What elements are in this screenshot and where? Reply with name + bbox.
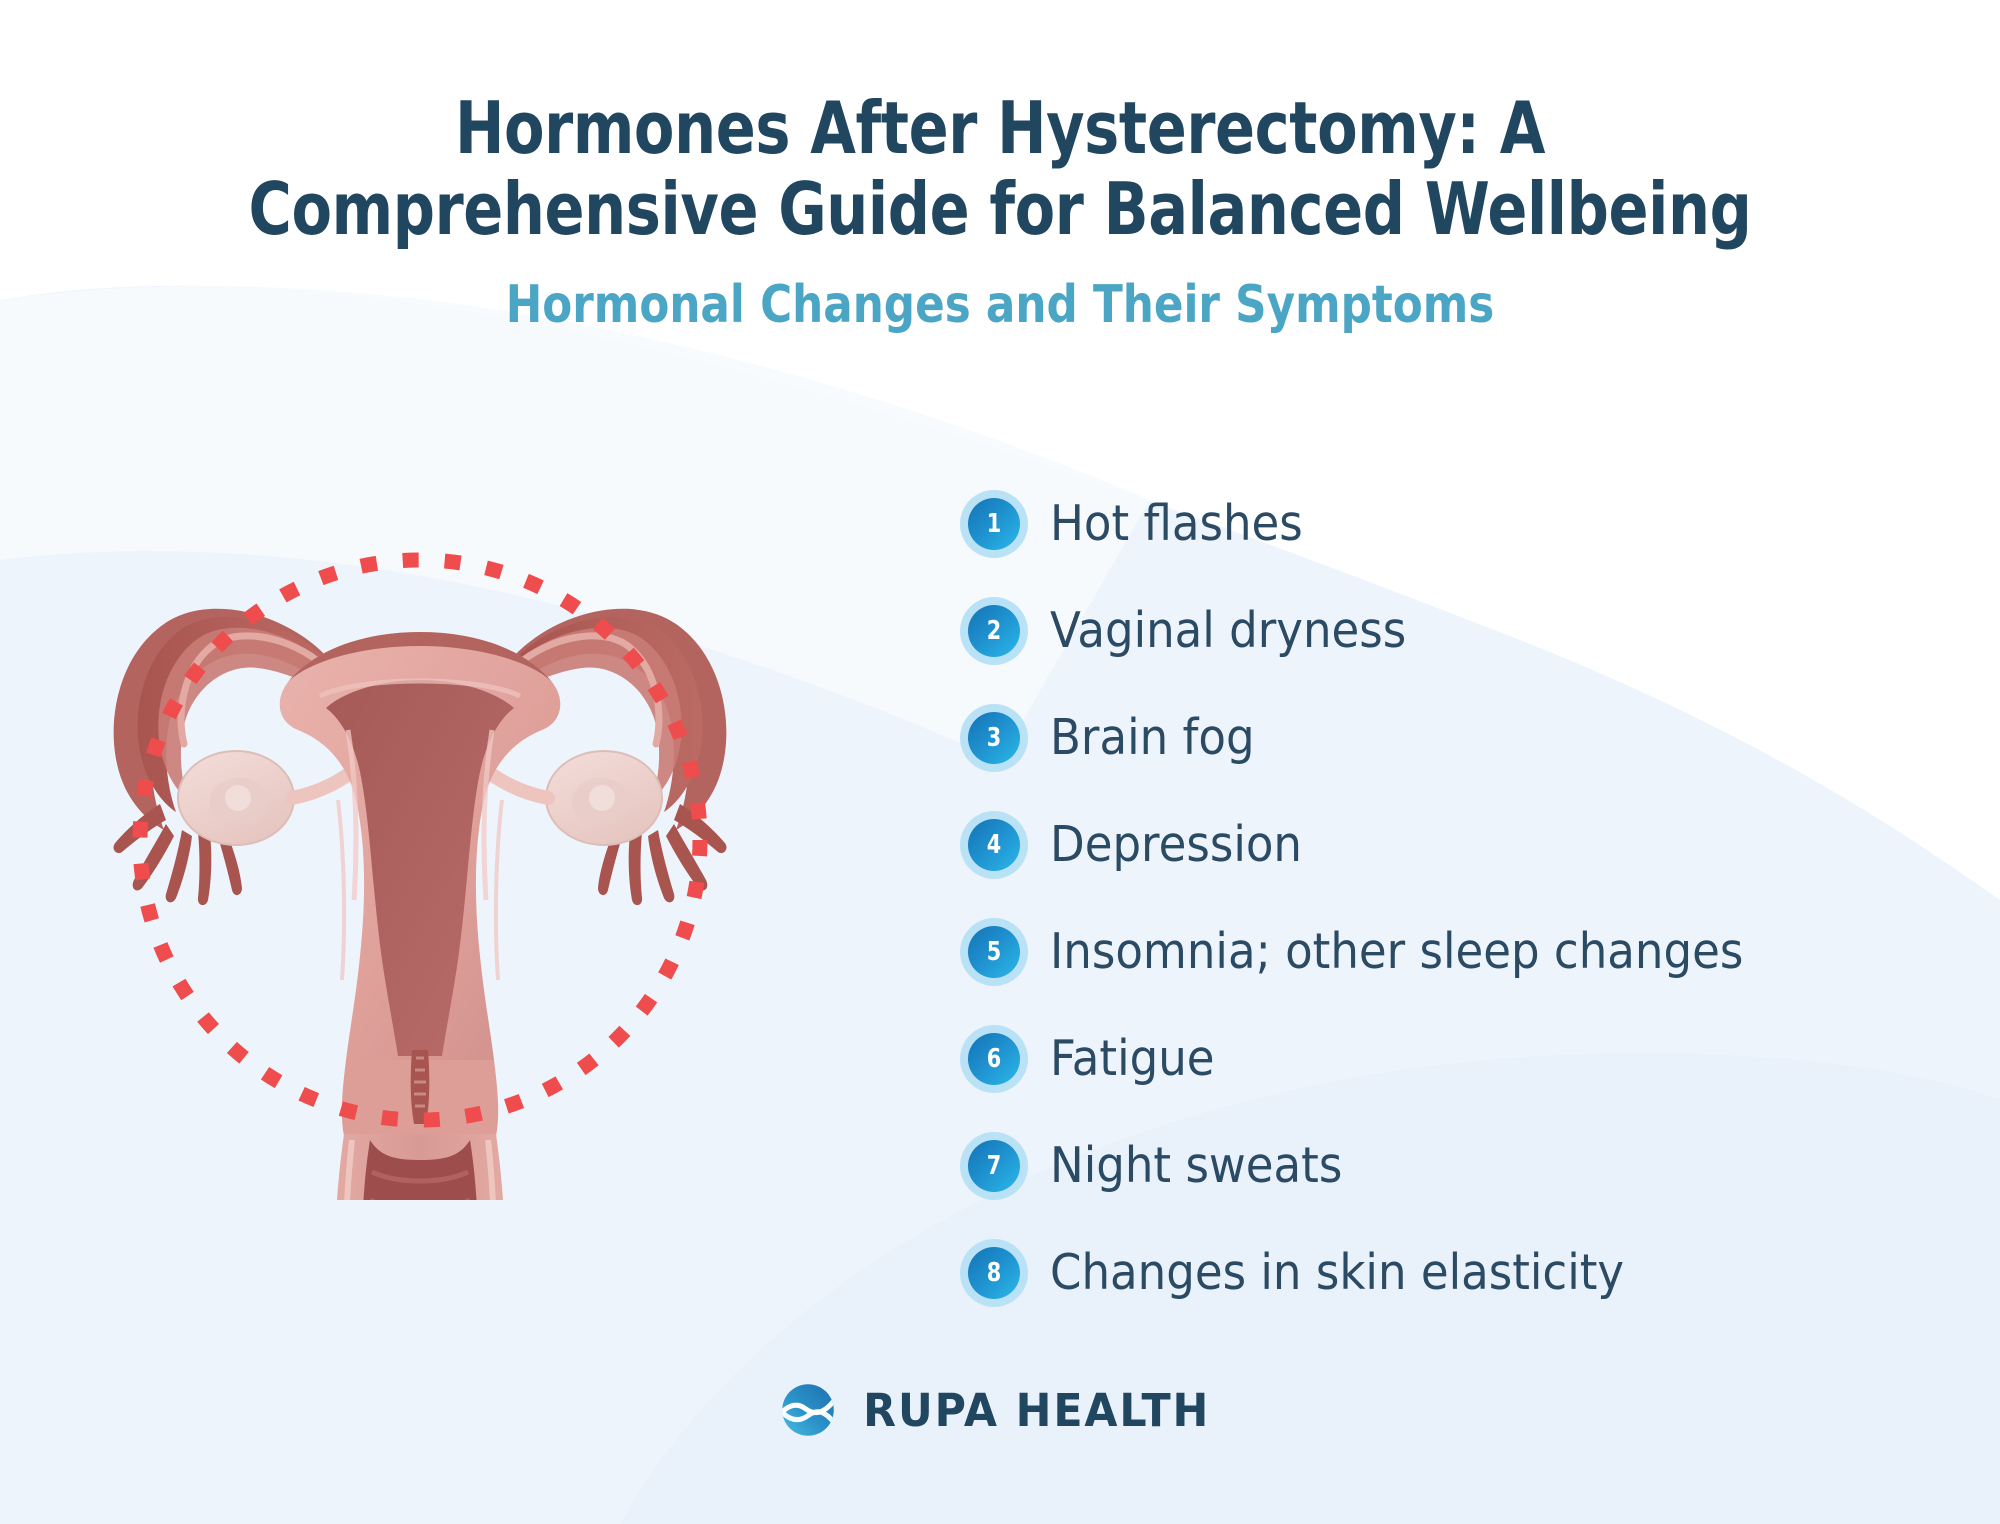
badge-core: 1 (968, 498, 1020, 550)
uterus-body (280, 632, 561, 1060)
number-badge: 6 (960, 1025, 1028, 1093)
symptom-label: Vaginal dryness (1050, 605, 1406, 656)
number-badge: 2 (960, 597, 1028, 665)
brand-footer: RUPA HEALTH (0, 1382, 2000, 1438)
list-item: 1 Hot flashes (960, 470, 1970, 577)
badge-core: 4 (968, 819, 1020, 871)
list-item: 3 Brain fog (960, 684, 1970, 791)
badge-core: 8 (968, 1247, 1020, 1299)
page-title: Hormones After Hysterectomy: A Comprehen… (180, 0, 1820, 249)
poster-header: Hormones After Hysterectomy: A Comprehen… (0, 0, 2000, 334)
badge-number: 8 (987, 1260, 1001, 1286)
badge-number: 1 (987, 511, 1001, 537)
list-item: 5 Insomnia; other sleep changes (960, 898, 1970, 1005)
list-item: 8 Changes in skin elasticity (960, 1219, 1970, 1326)
brand-name: RUPA HEALTH (863, 1384, 1210, 1437)
badge-number: 6 (987, 1046, 1001, 1072)
number-badge: 5 (960, 918, 1028, 986)
symptom-label: Depression (1050, 819, 1302, 870)
badge-core: 3 (968, 712, 1020, 764)
symptom-label: Hot flashes (1050, 498, 1303, 549)
badge-core: 7 (968, 1140, 1020, 1192)
ovary-left (178, 751, 294, 845)
badge-number: 5 (987, 939, 1001, 965)
badge-core: 2 (968, 605, 1020, 657)
vaginal-canal (334, 1134, 505, 1200)
symptom-label: Changes in skin elasticity (1050, 1247, 1624, 1298)
number-badge: 1 (960, 490, 1028, 558)
list-item: 4 Depression (960, 791, 1970, 898)
badge-core: 5 (968, 926, 1020, 978)
list-item: 7 Night sweats (960, 1112, 1970, 1219)
symptom-label: Brain fog (1050, 712, 1255, 763)
list-item: 6 Fatigue (960, 1005, 1970, 1112)
symptom-list: 1 Hot flashes 2 Vaginal dryness 3 Brain … (960, 470, 1970, 1326)
number-badge: 4 (960, 811, 1028, 879)
number-badge: 3 (960, 704, 1028, 772)
badge-number: 2 (987, 618, 1001, 644)
symptom-label: Night sweats (1050, 1140, 1342, 1191)
badge-number: 4 (987, 832, 1001, 858)
cervix (342, 1050, 498, 1136)
number-badge: 8 (960, 1239, 1028, 1307)
infographic-poster: Hormones After Hysterectomy: A Comprehen… (0, 0, 2000, 1524)
page-subtitle: Hormonal Changes and Their Symptoms (160, 249, 1840, 334)
symptom-label: Fatigue (1050, 1033, 1215, 1084)
symptom-label: Insomnia; other sleep changes (1050, 926, 1743, 977)
badge-core: 6 (968, 1033, 1020, 1085)
number-badge: 7 (960, 1132, 1028, 1200)
rupa-health-logo-icon (780, 1382, 836, 1438)
list-item: 2 Vaginal dryness (960, 577, 1970, 684)
uterus-anatomy-illustration (60, 400, 780, 1200)
ovary-right (546, 751, 662, 845)
badge-number: 7 (987, 1153, 1001, 1179)
badge-number: 3 (987, 725, 1001, 751)
